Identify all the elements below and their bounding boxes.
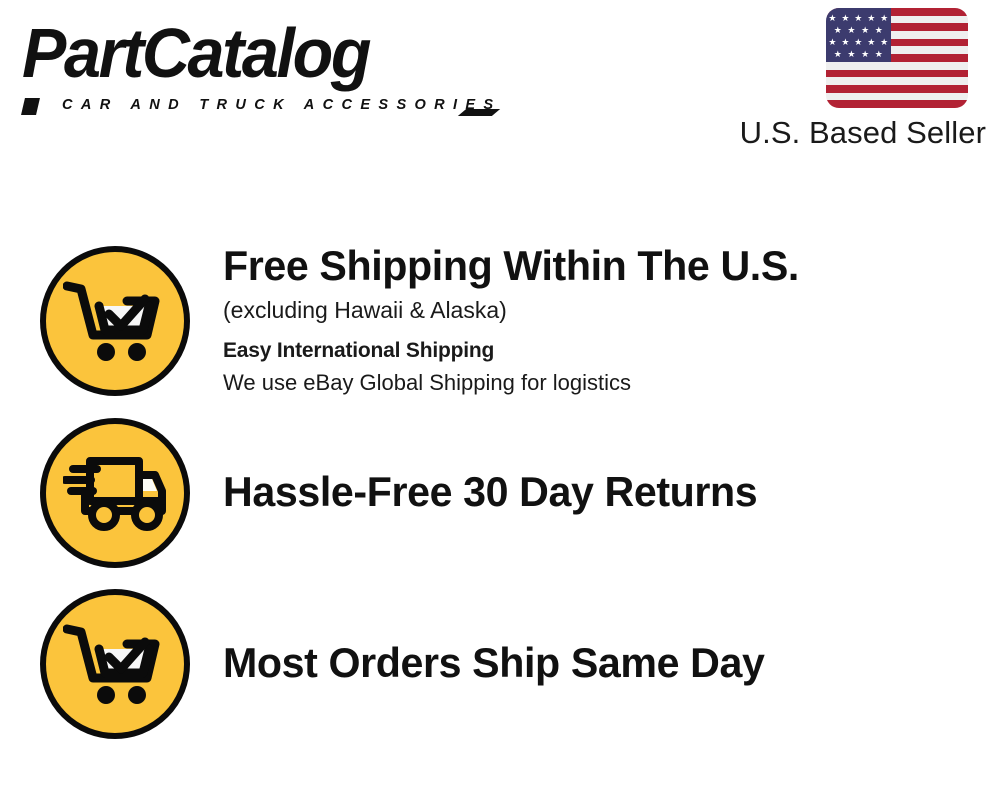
us-flag-icon: ★★★★★ ★★★★ ★★★★★ ★★★★ bbox=[826, 8, 968, 108]
feature-title: Hassle-Free 30 Day Returns bbox=[223, 467, 965, 517]
flag-star-row: ★★★★★ bbox=[826, 14, 891, 23]
shopping-cart-check-icon bbox=[40, 589, 190, 739]
flag-canton: ★★★★★ ★★★★ ★★★★★ ★★★★ bbox=[826, 8, 891, 62]
seller-label: U.S. Based Seller bbox=[740, 114, 986, 152]
feature-text: Hassle-Free 30 Day Returns bbox=[190, 467, 980, 519]
delivery-truck-icon bbox=[40, 418, 190, 568]
feature-text: Free Shipping Within The U.S. (excluding… bbox=[190, 241, 980, 401]
feature-row: Most Orders Ship Same Day bbox=[40, 588, 980, 740]
flag-star-row: ★★★★ bbox=[826, 26, 891, 35]
shopping-cart-check-icon bbox=[40, 246, 190, 396]
feature-subtext-secondary: We use eBay Global Shipping for logistic… bbox=[223, 367, 980, 399]
feature-row: Free Shipping Within The U.S. (excluding… bbox=[40, 245, 980, 397]
feature-title: Most Orders Ship Same Day bbox=[223, 638, 965, 688]
flag-star-row: ★★★★ bbox=[826, 50, 891, 59]
feature-row: Hassle-Free 30 Day Returns bbox=[40, 417, 980, 569]
feature-subtext: (excluding Hawaii & Alaska) bbox=[223, 293, 980, 327]
brand-logo: PartCatalog CAR AND TRUCK ACCESSORIES bbox=[22, 14, 492, 120]
logo-accent-right bbox=[458, 109, 500, 116]
us-based-seller-badge: ★★★★★ ★★★★ ★★★★★ ★★★★ U.S. Based Seller bbox=[706, 6, 986, 161]
logo-accent-left bbox=[21, 98, 40, 115]
feature-subtext-strong: Easy International Shipping bbox=[223, 335, 980, 367]
brand-wordmark: PartCatalog bbox=[22, 14, 369, 92]
feature-text: Most Orders Ship Same Day bbox=[190, 638, 980, 690]
brand-tagline: CAR AND TRUCK ACCESSORIES bbox=[62, 96, 501, 114]
feature-title: Free Shipping Within The U.S. bbox=[223, 241, 965, 291]
flag-star-row: ★★★★★ bbox=[826, 38, 891, 47]
